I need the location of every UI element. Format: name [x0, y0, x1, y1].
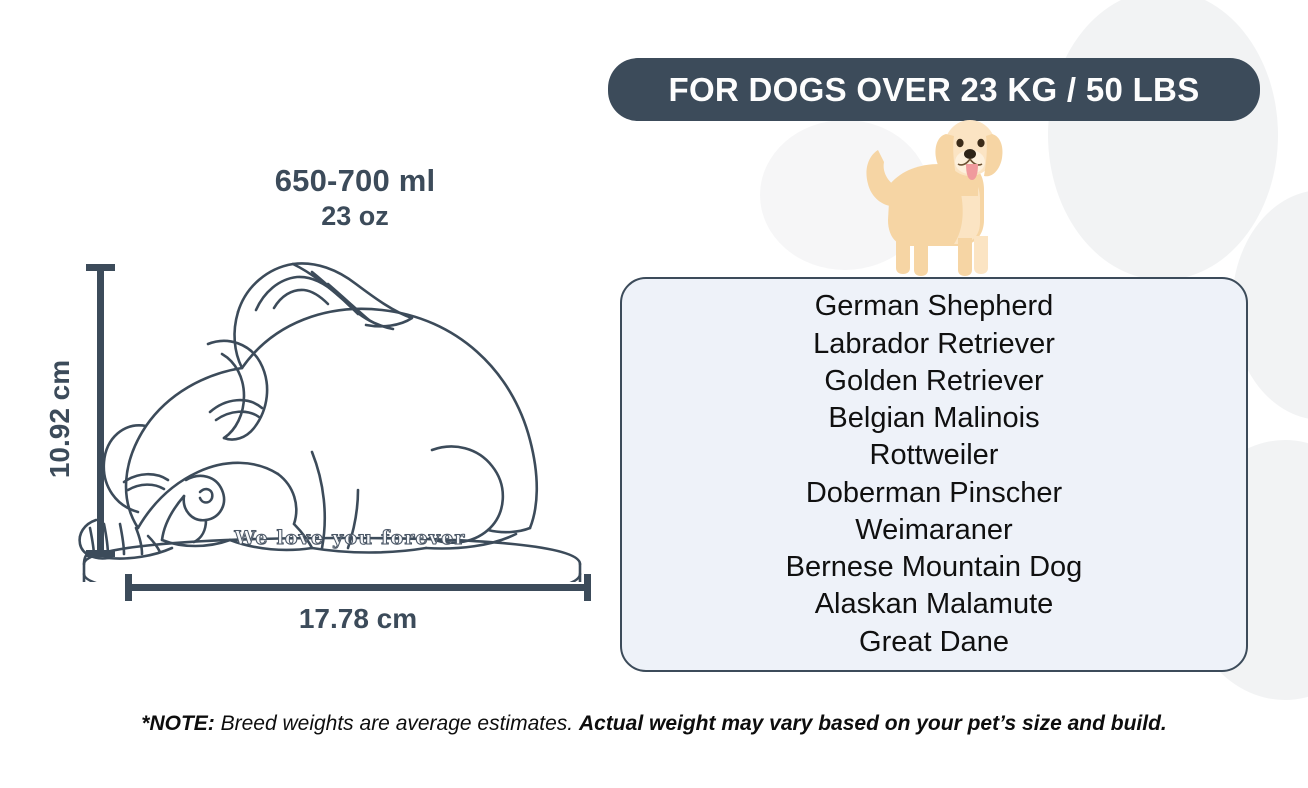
height-label: 10.92 cm: [44, 334, 76, 504]
breed-item: Labrador Retriever: [813, 326, 1055, 363]
height-dimension-cap-bottom: [86, 550, 115, 557]
breed-list-panel: German Shepherd Labrador Retriever Golde…: [620, 277, 1248, 672]
breed-item: Rottweiler: [870, 437, 999, 474]
breed-item: Alaskan Malamute: [815, 586, 1054, 623]
breed-item: Weimaraner: [855, 512, 1012, 549]
footnote-prefix: *NOTE:: [141, 712, 215, 735]
height-dimension-line: [97, 264, 104, 557]
breed-item: German Shepherd: [815, 288, 1054, 325]
breed-item: Belgian Malinois: [828, 400, 1039, 437]
breed-item: Great Dane: [859, 624, 1009, 661]
golden-retriever-icon: [862, 112, 1012, 280]
banner-title: FOR DOGS OVER 23 KG / 50 LBS: [668, 71, 1199, 109]
volume-ounces: 23 oz: [180, 201, 530, 232]
infographic-canvas: FOR DOGS OVER 23 KG / 50 LBS 650-700 ml …: [0, 0, 1308, 788]
width-dimension-line: [125, 584, 591, 591]
footnote-emphasis: Actual weight may vary based on your pet…: [579, 712, 1167, 735]
breed-item: Golden Retriever: [824, 363, 1043, 400]
height-dimension-cap-top: [86, 264, 115, 271]
width-dimension-cap-left: [125, 574, 132, 601]
background-blob-decor: [1048, 0, 1278, 280]
width-dimension-cap-right: [584, 574, 591, 601]
volume-milliliters: 650-700 ml: [180, 163, 530, 199]
breed-item: Bernese Mountain Dog: [786, 549, 1083, 586]
footnote-disclaimer: *NOTE: Breed weights are average estimat…: [0, 712, 1308, 736]
width-label: 17.78 cm: [268, 603, 448, 635]
volume-label: 650-700 ml 23 oz: [180, 163, 530, 232]
engraving-text: We love you forever: [200, 527, 500, 549]
footnote-middle: Breed weights are average estimates.: [215, 712, 579, 735]
breed-item: Doberman Pinscher: [806, 475, 1062, 512]
